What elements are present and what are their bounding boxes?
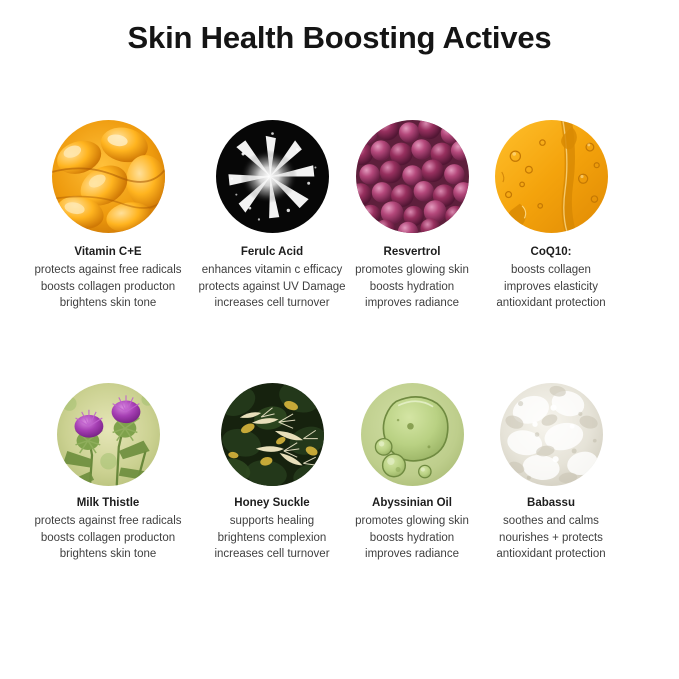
ingredient-caption: CoQ10: boosts collagen improves elastici…: [458, 244, 644, 312]
ingredient-card-milk-thistle: Milk Thistle protects against free radic…: [8, 383, 208, 563]
circle-wrap: [458, 383, 644, 486]
ingredient-card-vitamin-c-e: Vitamin C+E protects against free radica…: [8, 120, 208, 312]
benefit-line: soothes and calms: [458, 513, 644, 530]
ingredient-name: Babassu: [458, 495, 644, 512]
ingredient-card-coq10: CoQ10: boosts collagen improves elastici…: [458, 120, 644, 312]
benefit-line: improves elasticity: [458, 279, 644, 296]
resveratrol-grapes-image: [356, 120, 469, 233]
benefit-line: protects against free radicals: [8, 262, 208, 279]
ingredient-caption: Vitamin C+E protects against free radica…: [8, 244, 208, 312]
ingredient-caption: Milk Thistle protects against free radic…: [8, 495, 208, 563]
page-title: Skin Health Boosting Actives: [0, 18, 679, 58]
benefit-line: nourishes + protects: [458, 530, 644, 547]
ingredient-caption: Babassu soothes and calms nourishes + pr…: [458, 495, 644, 563]
benefit-line: antioxidant protection: [458, 295, 644, 312]
ingredient-name: Milk Thistle: [8, 495, 208, 512]
benefit-line: protects against free radicals: [8, 513, 208, 530]
ingredient-card-babassu: Babassu soothes and calms nourishes + pr…: [458, 383, 644, 563]
benefit-line: boosts collagen producton: [8, 279, 208, 296]
coq10-gel-serum-image: [495, 120, 608, 233]
abyssinian-oil-gel-drop-image: [361, 383, 464, 486]
infographic-page: Skin Health Boosting Actives: [0, 0, 679, 679]
vitamin-c-e-capsules-image: [52, 120, 165, 233]
ferulic-acid-powder-image: [216, 120, 329, 233]
benefit-line: brightens skin tone: [8, 546, 208, 563]
milk-thistle-flower-image: [57, 383, 160, 486]
benefit-line: boosts collagen producton: [8, 530, 208, 547]
benefit-line: brightens skin tone: [8, 295, 208, 312]
circle-wrap: [458, 120, 644, 233]
babassu-powder-image: [500, 383, 603, 486]
benefit-line: antioxidant protection: [458, 546, 644, 563]
circle-wrap: [8, 383, 208, 486]
circle-wrap: [8, 120, 208, 233]
benefit-line: boosts collagen: [458, 262, 644, 279]
ingredient-name: CoQ10:: [458, 244, 644, 261]
honeysuckle-flowers-image: [221, 383, 324, 486]
ingredient-name: Vitamin C+E: [8, 244, 208, 261]
